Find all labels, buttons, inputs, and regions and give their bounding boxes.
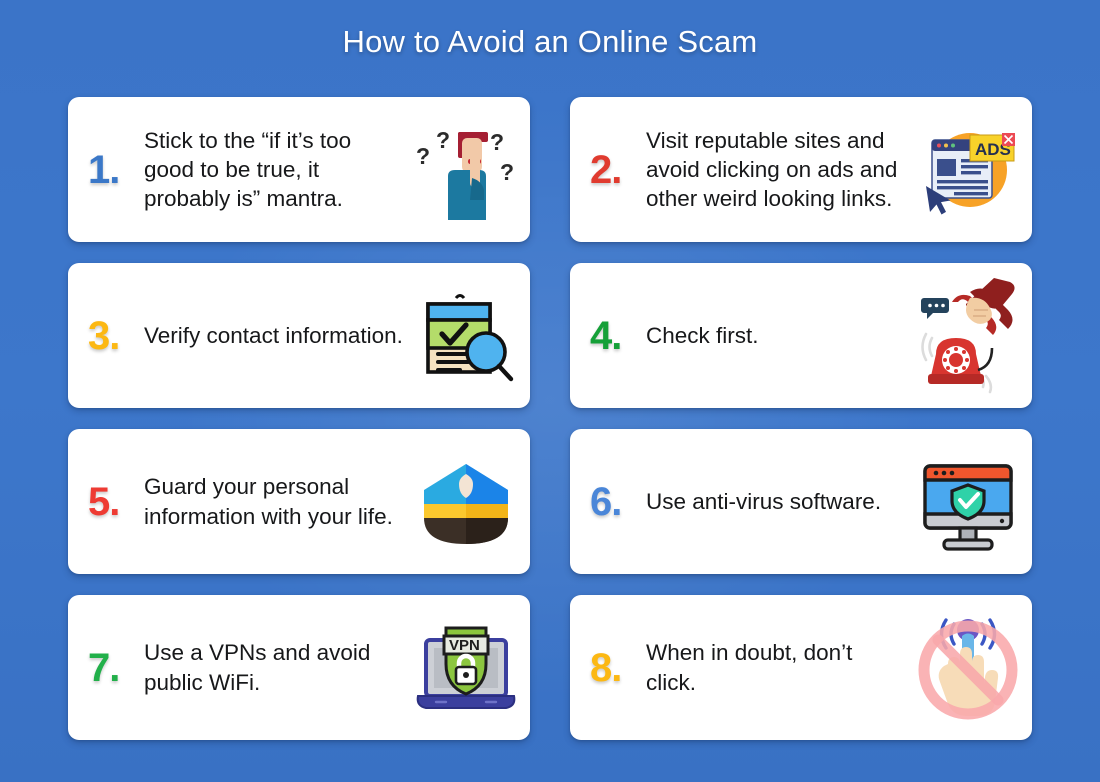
tip-card-3[interactable]: 3. Verify contact information. <box>68 263 530 408</box>
tip-number-4: 4. <box>590 316 646 356</box>
tip-card-2[interactable]: 2. Visit reputable sites and avoid click… <box>570 97 1032 242</box>
tip-text-6: Use anti-virus software. <box>646 487 914 516</box>
poster-canvas: How to Avoid an Online Scam 1. Stick to … <box>0 0 1100 782</box>
tip-number-3: 3. <box>88 316 144 356</box>
tip-card-8[interactable]: 8. When in doubt, don’t click. <box>570 595 1032 740</box>
tip-text-4: Check first. <box>646 321 914 350</box>
tip-card-5[interactable]: 5. Guard your personal information with … <box>68 429 530 574</box>
laptop-vpn-shield-lock-icon: VPN <box>412 610 520 726</box>
tip-text-1: Stick to the “if it’s too good to be tru… <box>144 126 412 214</box>
tip-text-7: Use a VPNs and avoid public WiFi. <box>144 638 412 697</box>
tip-text-2: Visit reputable sites and avoid clicking… <box>646 126 914 214</box>
tip-number-5: 5. <box>88 482 144 522</box>
monitor-shield-antivirus-icon <box>914 444 1022 560</box>
tip-text-3: Verify contact information. <box>144 321 412 350</box>
police-cap-icon <box>412 444 520 560</box>
svg-text:?: ? <box>500 159 514 185</box>
tip-card-1[interactable]: 1. Stick to the “if it’s too good to be … <box>68 97 530 242</box>
tip-card-7[interactable]: 7. Use a VPNs and avoid public WiFi. VPN <box>68 595 530 740</box>
tip-number-1: 1. <box>88 150 144 190</box>
tip-number-8: 8. <box>590 648 646 688</box>
tip-text-5: Guard your personal information with you… <box>144 472 412 531</box>
rotary-telephone-hand-icon <box>914 278 1022 394</box>
tip-number-6: 6. <box>590 482 646 522</box>
svg-text:?: ? <box>416 143 430 169</box>
thinking-person-question-marks-icon: ? ? ? ? <box>412 112 520 228</box>
tip-card-4[interactable]: 4. Check first. <box>570 263 1032 408</box>
tip-text-8: When in doubt, don’t click. <box>646 638 914 697</box>
page-title: How to Avoid an Online Scam <box>0 24 1100 60</box>
svg-text:?: ? <box>436 127 450 153</box>
tip-number-7: 7. <box>88 648 144 688</box>
tip-card-6[interactable]: 6. Use anti-virus software. <box>570 429 1032 574</box>
document-magnifier-icon <box>412 278 520 394</box>
browser-ads-popup-icon: ADS <box>914 112 1022 228</box>
svg-text:?: ? <box>490 129 504 155</box>
vpn-label: VPN <box>449 637 480 654</box>
tips-grid: 1. Stick to the “if it’s too good to be … <box>68 97 1032 740</box>
tip-number-2: 2. <box>590 150 646 190</box>
no-click-hand-prohibited-icon <box>914 610 1022 726</box>
